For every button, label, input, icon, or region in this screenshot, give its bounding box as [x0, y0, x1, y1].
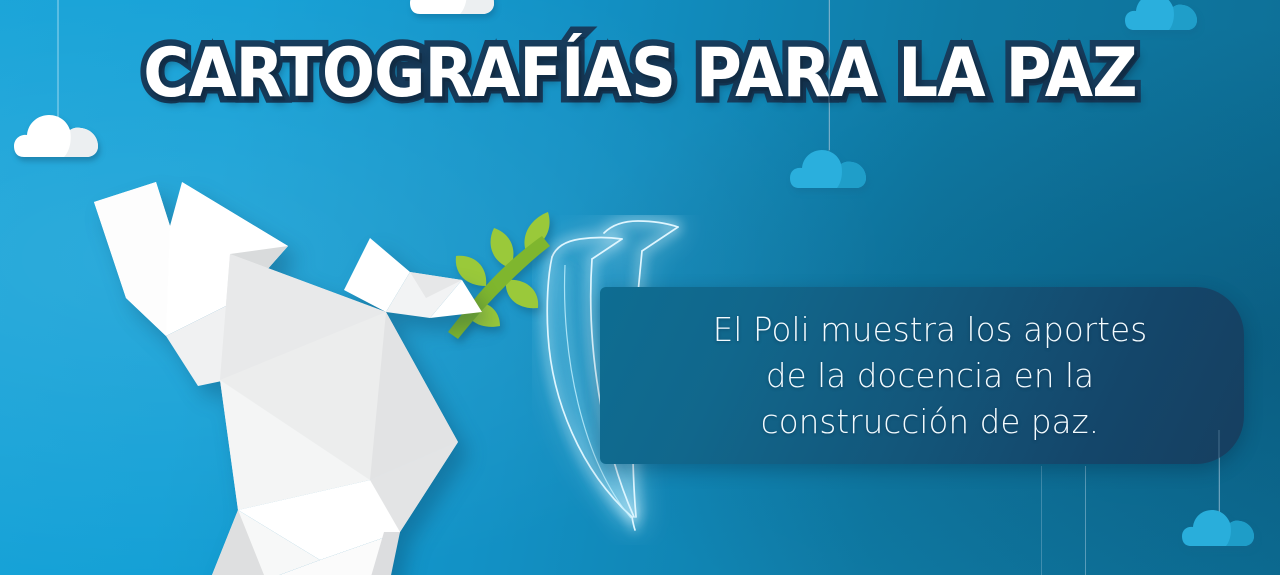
- cloud-string: [58, 0, 59, 117]
- cloud-string: [1219, 430, 1220, 512]
- cyan-cloud-bottom-right-icon: [1182, 430, 1256, 560]
- cyan-cloud-middle-icon: [790, 0, 868, 210]
- cloud-string: [829, 0, 830, 152]
- white-cloud-left-icon: [14, 0, 102, 175]
- white-cloud-top-center-icon: [410, 0, 498, 52]
- origami-dove-icon: [70, 180, 490, 575]
- cloud-body: [410, 0, 498, 16]
- hanging-string-5: [1041, 466, 1042, 575]
- cloud-body: [1125, 0, 1199, 32]
- cloud-body: [14, 113, 102, 159]
- hanging-string-4: [1085, 466, 1086, 575]
- cyan-cloud-top-right-icon: [1125, 0, 1199, 58]
- cloud-body: [790, 148, 868, 190]
- peace-cartographies-banner: El Poli muestra los aportes de la docenc…: [0, 0, 1280, 575]
- message-text: El Poli muestra los aportes de la docenc…: [640, 286, 1220, 466]
- cloud-body: [1182, 508, 1256, 548]
